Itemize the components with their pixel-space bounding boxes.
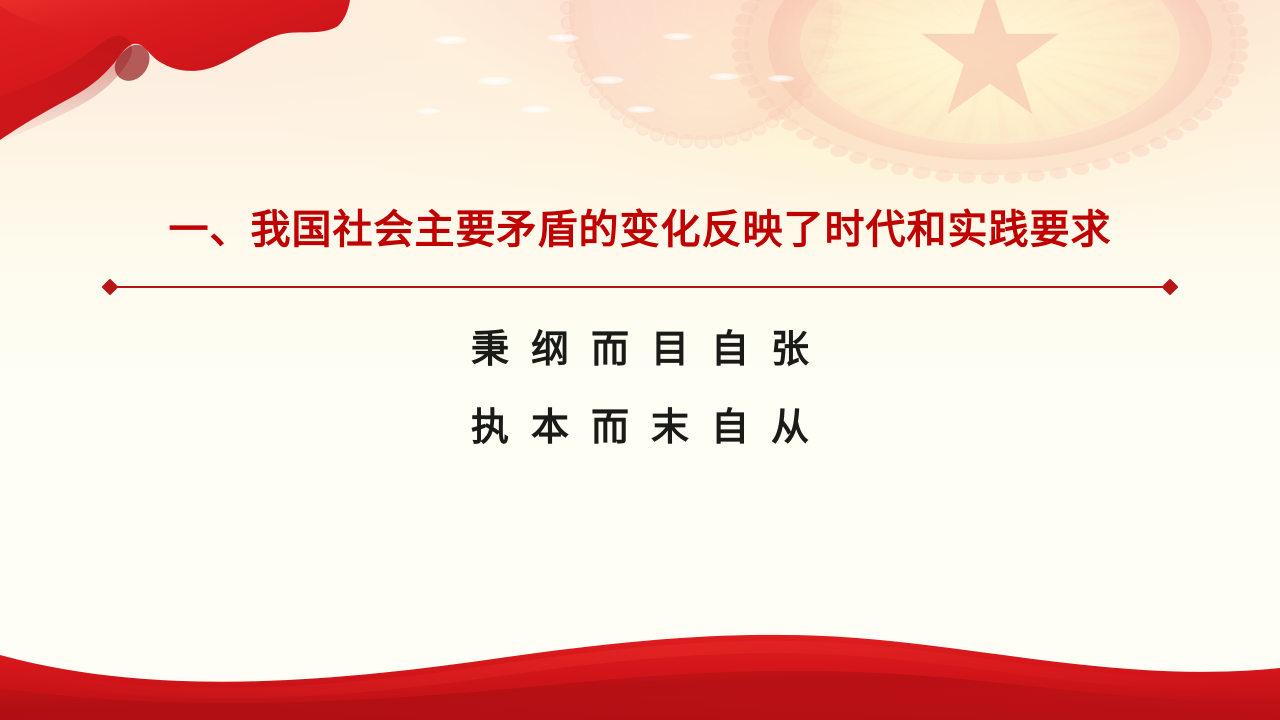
divider-cap-right-icon bbox=[1162, 279, 1179, 296]
divider-rule bbox=[110, 286, 1170, 288]
calligraphy-line-1: 秉纲而目自张 bbox=[0, 310, 1280, 388]
calligraphy-line-2: 执本而末自从 bbox=[0, 388, 1280, 466]
slide-canvas: 一、我国社会主要矛盾的变化反映了时代和实践要求 秉纲而目自张 执本而末自从 bbox=[0, 0, 1280, 720]
slide-content: 一、我国社会主要矛盾的变化反映了时代和实践要求 秉纲而目自张 执本而末自从 bbox=[0, 0, 1280, 720]
page-title: 一、我国社会主要矛盾的变化反映了时代和实践要求 bbox=[0, 206, 1280, 255]
calligraphy-block: 秉纲而目自张 执本而末自从 bbox=[0, 310, 1280, 466]
title-divider bbox=[104, 280, 1176, 294]
